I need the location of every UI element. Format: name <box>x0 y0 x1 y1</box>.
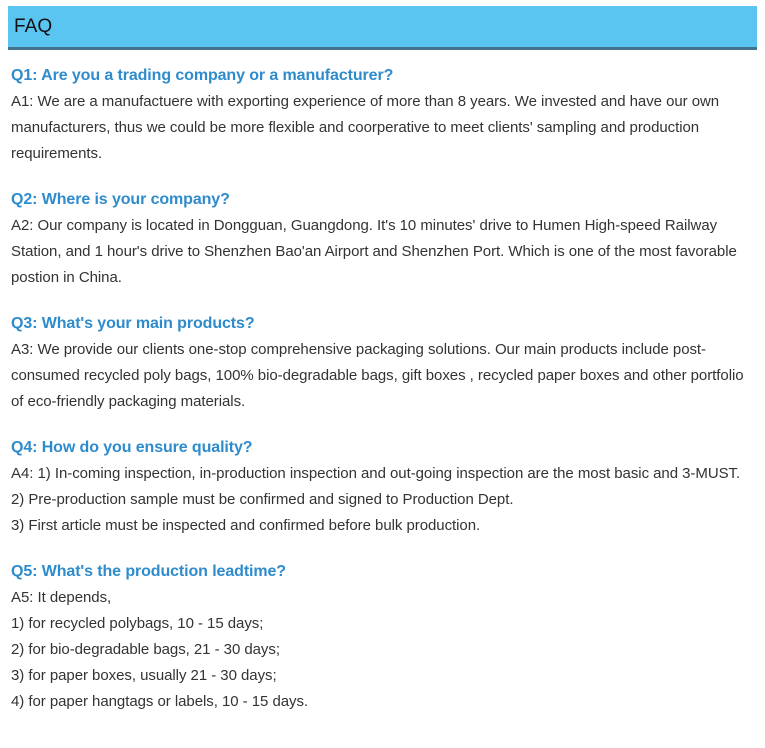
faq-question: Q2: Where is your company? <box>11 187 753 212</box>
faq-item: Q4: How do you ensure quality?A4: 1) In-… <box>11 435 753 539</box>
faq-answer: A3: We provide our clients one-stop comp… <box>11 337 753 415</box>
faq-answer-line: 3) First article must be inspected and c… <box>11 513 753 539</box>
faq-item: Q2: Where is your company?A2: Our compan… <box>11 187 753 291</box>
faq-answer-line: 3) for paper boxes, usually 21 - 30 days… <box>11 663 753 689</box>
faq-answer: A2: Our company is located in Dongguan, … <box>11 213 753 291</box>
faq-banner: FAQ <box>8 6 757 50</box>
faq-banner-title: FAQ <box>8 17 52 37</box>
faq-page: FAQ Q1: Are you a trading company or a m… <box>0 0 765 748</box>
faq-question: Q1: Are you a trading company or a manuf… <box>11 63 753 88</box>
faq-item: Q1: Are you a trading company or a manuf… <box>11 63 753 167</box>
faq-question: Q3: What's your main products? <box>11 311 753 336</box>
faq-item: Q3: What's your main products?A3: We pro… <box>11 311 753 415</box>
faq-answer: A5: It depends,1) for recycled polybags,… <box>11 585 753 715</box>
faq-list: Q1: Are you a trading company or a manuf… <box>11 63 753 715</box>
faq-answer: A1: We are a manufactuere with exporting… <box>11 89 753 167</box>
faq-answer-line: A5: It depends, <box>11 585 753 611</box>
faq-answer-line: 2) Pre-production sample must be confirm… <box>11 487 753 513</box>
faq-question: Q5: What's the production leadtime? <box>11 559 753 584</box>
faq-question: Q4: How do you ensure quality? <box>11 435 753 460</box>
faq-answer: A4: 1) In-coming inspection, in-producti… <box>11 461 753 539</box>
faq-answer-line: 4) for paper hangtags or labels, 10 - 15… <box>11 689 753 715</box>
faq-answer-line: 1) for recycled polybags, 10 - 15 days; <box>11 611 753 637</box>
faq-answer-line: A2: Our company is located in Dongguan, … <box>11 213 753 291</box>
faq-item: Q5: What's the production leadtime?A5: I… <box>11 559 753 715</box>
faq-answer-line: A3: We provide our clients one-stop comp… <box>11 337 753 415</box>
faq-answer-line: A4: 1) In-coming inspection, in-producti… <box>11 461 753 487</box>
faq-answer-line: A1: We are a manufactuere with exporting… <box>11 89 753 167</box>
faq-answer-line: 2) for bio-degradable bags, 21 - 30 days… <box>11 637 753 663</box>
